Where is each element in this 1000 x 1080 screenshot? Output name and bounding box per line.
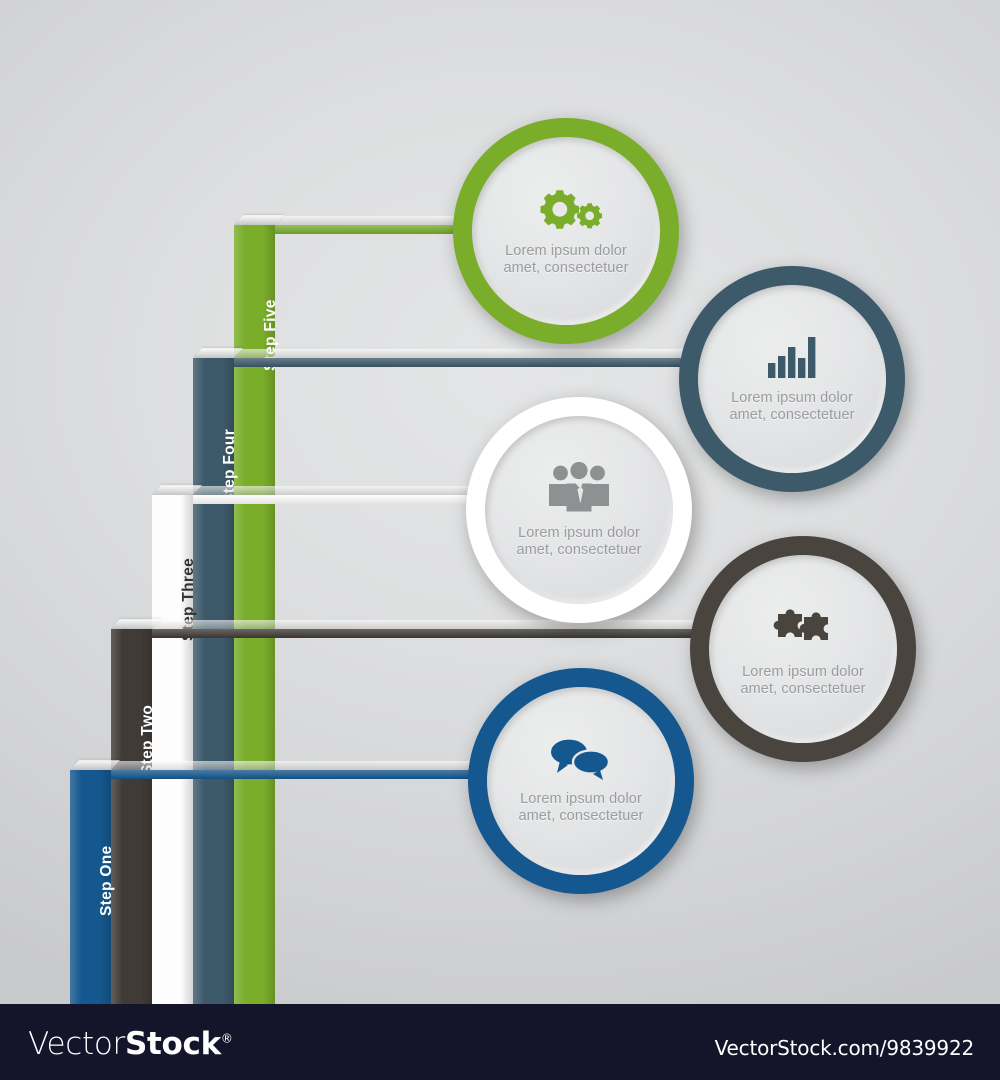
step-two-arm-cap: [111, 620, 719, 629]
infographic-canvas: Step Five Step Four Step Three Step Two …: [0, 0, 1000, 1080]
node-chart-caption: Lorem ipsum dolor amet, consectetuer: [729, 390, 854, 424]
node-gears-inner: Lorem ipsum dolor amet, consectetuer: [472, 137, 660, 325]
caption-line-1: Lorem ipsum dolor: [740, 664, 865, 681]
vectorstock-logo: VectorStock®: [28, 1026, 233, 1062]
caption-line-1: Lorem ipsum dolor: [518, 791, 643, 808]
step-three-arm-cap: [152, 486, 485, 495]
node-chat-inner: Lorem ipsum dolor amet, consectetuer: [487, 687, 675, 875]
step-three-connector-arm: [152, 495, 477, 504]
node-team[interactable]: Lorem ipsum dolor amet, consectetuer: [466, 397, 692, 623]
registered-mark-icon: ®: [221, 1032, 233, 1046]
step-one-connector-arm: [70, 770, 500, 779]
caption-line-1: Lorem ipsum dolor: [503, 243, 628, 260]
caption-line-2: amet, consectetuer: [516, 542, 641, 559]
node-chat-caption: Lorem ipsum dolor amet, consectetuer: [518, 791, 643, 825]
node-puzzle[interactable]: Lorem ipsum dolor amet, consectetuer: [690, 536, 916, 762]
step-one-label: Step One: [98, 846, 116, 916]
brand-light: Vector: [28, 1026, 125, 1062]
caption-line-2: amet, consectetuer: [729, 407, 854, 424]
brand-bold: Stock: [125, 1026, 221, 1062]
caption-line-2: amet, consectetuer: [503, 260, 628, 277]
caption-line-2: amet, consectetuer: [518, 808, 643, 825]
node-team-caption: Lorem ipsum dolor amet, consectetuer: [516, 525, 641, 559]
node-chart-inner: Lorem ipsum dolor amet, consectetuer: [698, 285, 886, 473]
node-puzzle-inner: Lorem ipsum dolor amet, consectetuer: [709, 555, 897, 743]
step-four-arm-cap: [193, 349, 701, 358]
gears-icon: [530, 186, 602, 237]
node-chart[interactable]: Lorem ipsum dolor amet, consectetuer: [679, 266, 905, 492]
speech-bubbles-icon: [548, 738, 614, 785]
step-one-arm-cap: [70, 761, 508, 770]
footer-watermark-bar: VectorStock® VectorStock.com/9839922: [0, 1004, 1000, 1080]
node-gears[interactable]: Lorem ipsum dolor amet, consectetuer: [453, 118, 679, 344]
step-two-connector-arm: [111, 629, 711, 638]
puzzle-pieces-icon: [766, 601, 840, 658]
caption-line-1: Lorem ipsum dolor: [729, 390, 854, 407]
people-group-icon: [547, 462, 611, 519]
step-four-connector-arm: [193, 358, 693, 367]
step-two-bar[interactable]: [111, 629, 152, 1004]
bar-chart-icon: [767, 335, 817, 384]
node-gears-caption: Lorem ipsum dolor amet, consectetuer: [503, 243, 628, 277]
vectorstock-url: VectorStock.com/9839922: [715, 1036, 974, 1060]
node-puzzle-caption: Lorem ipsum dolor amet, consectetuer: [740, 664, 865, 698]
node-team-inner: Lorem ipsum dolor amet, consectetuer: [485, 416, 673, 604]
caption-line-2: amet, consectetuer: [740, 681, 865, 698]
caption-line-1: Lorem ipsum dolor: [516, 525, 641, 542]
node-chat[interactable]: Lorem ipsum dolor amet, consectetuer: [468, 668, 694, 894]
